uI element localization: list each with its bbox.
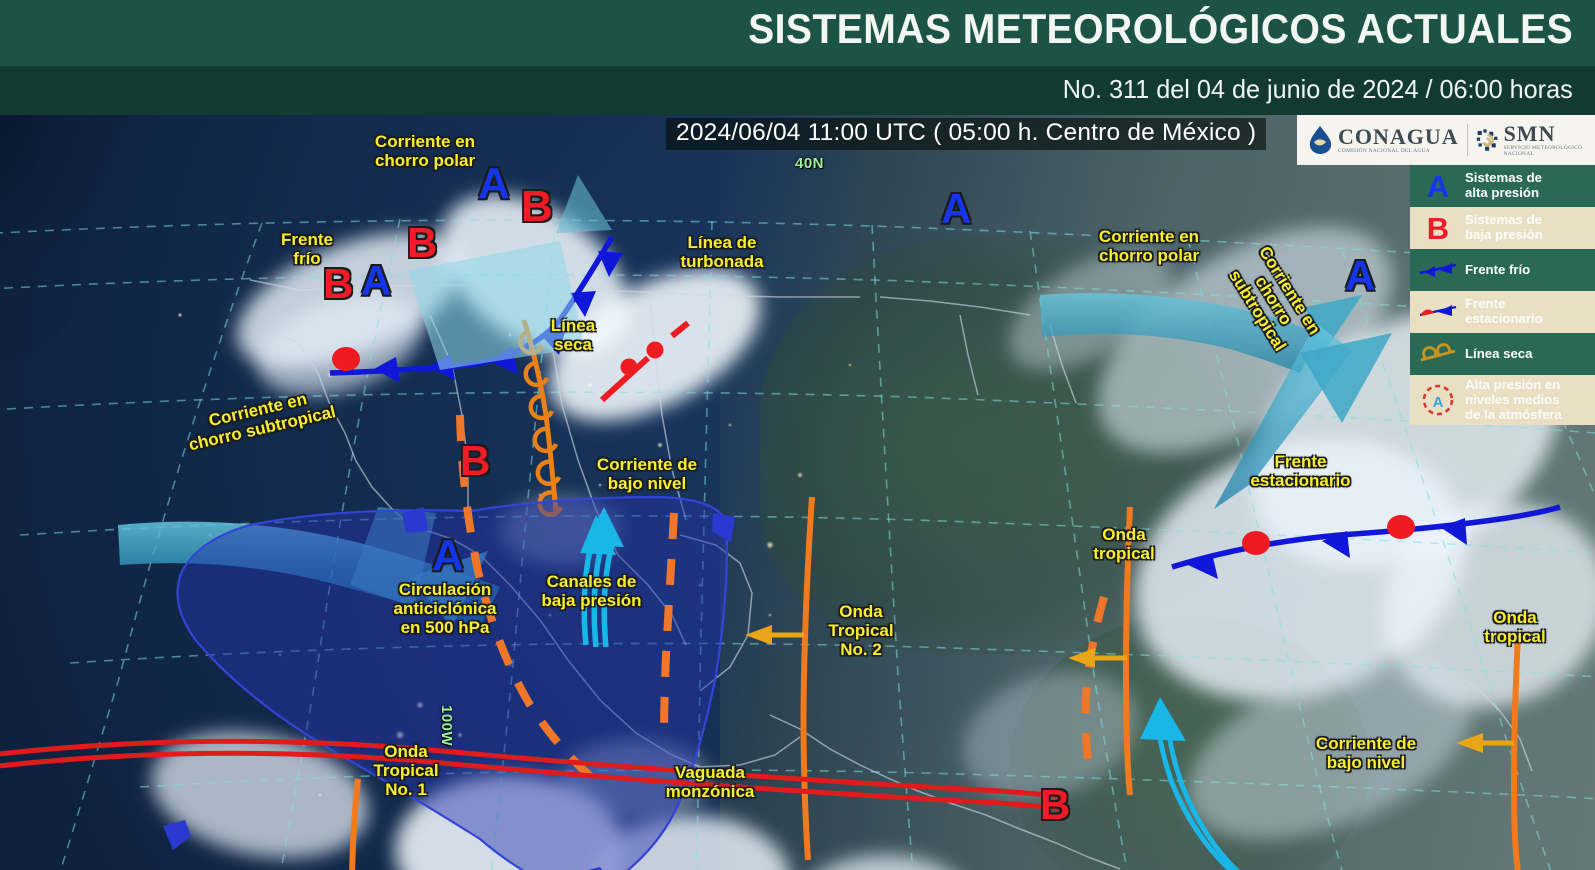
tropical-wave-no1 — [300, 779, 358, 870]
legend-label: Alta presión en niveles medios de la atm… — [1465, 378, 1562, 422]
high-pressure-symbol: A — [941, 188, 971, 230]
bulletin-number-date: No. 311 del 04 de junio de 2024 / 06:00 … — [1063, 74, 1573, 105]
squall-line — [602, 323, 688, 400]
legend-icon-wrap — [1418, 253, 1458, 287]
legend-icon-wrap: A — [1418, 169, 1458, 203]
svg-text:A: A — [1433, 394, 1444, 411]
weather-bulletin-page: SISTEMAS METEOROLÓGICOS ACTUALES No. 311… — [0, 0, 1595, 870]
tropical-wave-no2 — [745, 497, 812, 860]
legend-row-high-pressure[interactable]: ASistemas de alta presión — [1410, 165, 1595, 207]
cold-front-icon — [1418, 259, 1458, 281]
low-pressure-symbol: B — [323, 263, 353, 305]
legend-row-dry-line[interactable]: Línea seca — [1410, 333, 1595, 375]
weather-vector-layer — [0, 115, 1595, 870]
smn-logo-text: SMN SERVICIO METEOROLÓGICO NACIONAL — [1504, 123, 1595, 157]
smn-logo: SMN SERVICIO METEOROLÓGICO NACIONAL — [1476, 123, 1595, 157]
legend-label: Frente frío — [1465, 263, 1530, 278]
map-timestamp: 2024/06/04 11:00 UTC ( 05:00 h. Centro d… — [666, 118, 1266, 150]
low-pressure-symbol: B — [521, 185, 553, 229]
legend-panel: ASistemas de alta presiónBSistemas de ba… — [1410, 165, 1595, 425]
agency-logos: CONAGUA COMISIÓN NACIONAL DEL AGUA SMN — [1297, 115, 1595, 165]
legend-label: Frente estacionario — [1465, 297, 1543, 327]
logo-divider — [1467, 124, 1468, 156]
legend-label: Sistemas de baja presión — [1465, 213, 1543, 243]
page-title: SISTEMAS METEOROLÓGICOS ACTUALES — [748, 5, 1573, 53]
water-drop-icon — [1307, 125, 1333, 155]
low-pressure-symbol: B — [460, 440, 490, 482]
legend-label: Línea seca — [1465, 347, 1532, 362]
stationary-front-east — [1172, 507, 1560, 579]
low-pressure-symbol: B — [1040, 784, 1070, 826]
legend-icon-wrap — [1418, 337, 1458, 371]
header-title-bar: SISTEMAS METEOROLÓGICOS ACTUALES — [0, 0, 1595, 66]
legend-icon-wrap: A — [1418, 383, 1458, 417]
legend-icon-wrap: B — [1418, 211, 1458, 245]
polar-jet-west — [408, 175, 612, 370]
conagua-logo-text: CONAGUA COMISIÓN NACIONAL DEL AGUA — [1338, 126, 1459, 154]
legend-row-stationary-front[interactable]: Frente estacionario — [1410, 291, 1595, 333]
stationary-front-icon — [1418, 301, 1458, 323]
grid-label: 100W — [438, 705, 455, 746]
legend-icon-wrap — [1418, 295, 1458, 329]
legend-label: Sistemas de alta presión — [1465, 171, 1542, 201]
high-pressure-icon: A — [1427, 171, 1449, 202]
conagua-logo: CONAGUA COMISIÓN NACIONAL DEL AGUA — [1307, 125, 1459, 155]
satellite-map[interactable]: 2024/06/04 11:00 UTC ( 05:00 h. Centro d… — [0, 115, 1595, 870]
tropical-wave-east-dashed — [1086, 597, 1105, 775]
low-pressure-icon: B — [1427, 213, 1449, 244]
tropical-wave-east-solid — [1068, 507, 1130, 795]
legend-row-cold-front[interactable]: Frente frío — [1410, 249, 1595, 291]
header-subtitle-bar: No. 311 del 04 de junio de 2024 / 06:00 … — [0, 66, 1595, 115]
high-pressure-symbol: A — [1345, 255, 1375, 297]
high-pressure-symbol: A — [478, 162, 510, 206]
dry-line-icon — [1418, 343, 1458, 365]
mid-level-high-icon: A — [1418, 383, 1458, 417]
legend-row-low-pressure[interactable]: BSistemas de baja presión — [1410, 207, 1595, 249]
legend-row-mid-level-high[interactable]: AAlta presión en niveles medios de la at… — [1410, 375, 1595, 425]
smn-spiral-icon — [1476, 126, 1499, 154]
grid-label: 40N — [795, 155, 824, 172]
high-pressure-symbol: A — [361, 260, 391, 302]
high-pressure-symbol: A — [432, 534, 464, 578]
low-pressure-symbol: B — [407, 222, 437, 264]
